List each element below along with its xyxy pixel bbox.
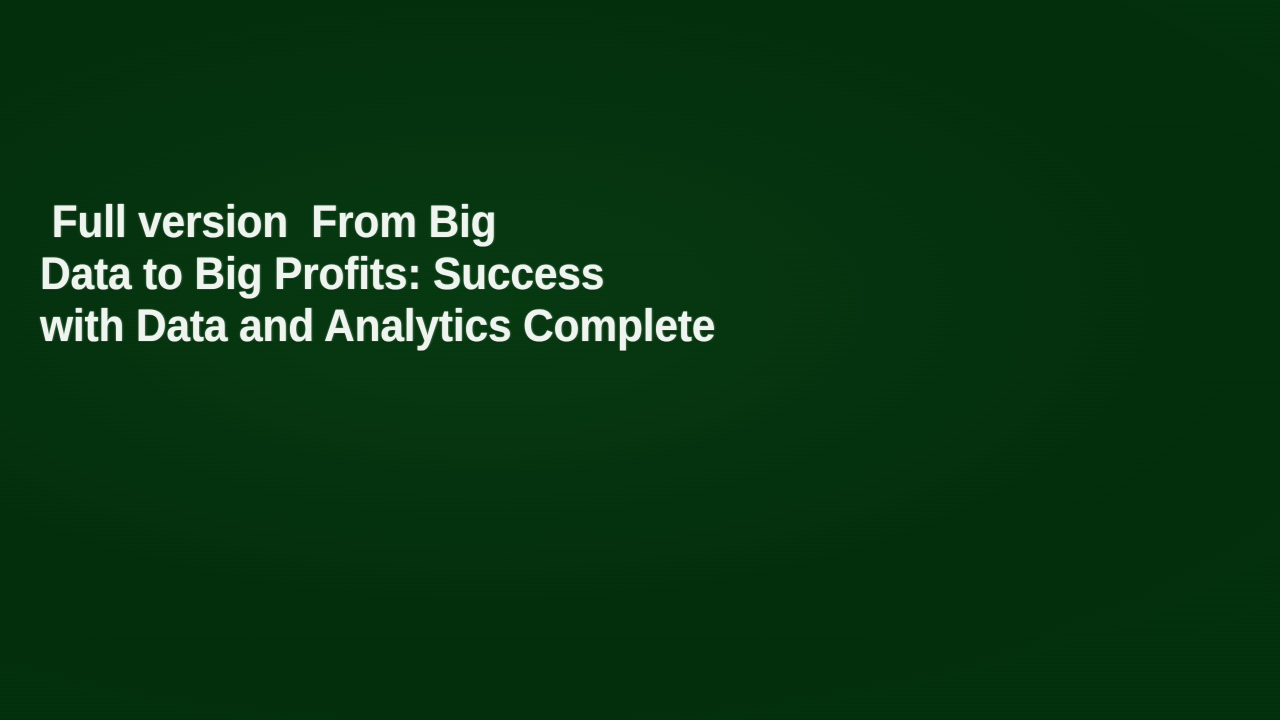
title-line-2: Data to Big Profits: Success: [40, 248, 1155, 300]
video-frame: Full version From Big Data to Big Profit…: [0, 0, 1280, 720]
title-card: Full version From Big Data to Big Profit…: [40, 196, 1220, 352]
title-line-1: Full version From Big: [40, 196, 1155, 248]
title-line-3: with Data and Analytics Complete: [40, 300, 1155, 352]
